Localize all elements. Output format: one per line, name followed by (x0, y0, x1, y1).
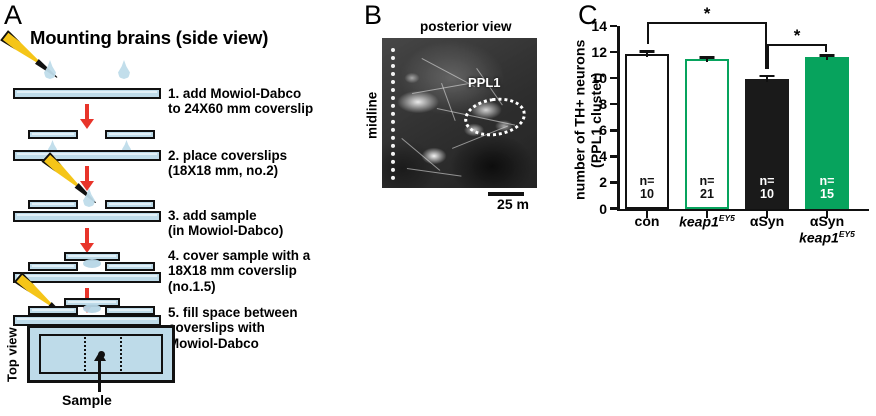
error-bar-cap (760, 75, 775, 78)
bar-con: n= 10 (625, 54, 669, 208)
x-category-label-2: αSyn (737, 214, 797, 230)
error-bar (706, 56, 709, 61)
bar-chart: 02468101214 n= 10n= 21n= 10n= 15 ** (617, 26, 857, 211)
ppl1-cluster-label: PPL1 (468, 75, 501, 90)
bar--syn: n= 10 (745, 79, 789, 208)
error-bar (766, 75, 769, 83)
coverslip-18x18-left-step3 (28, 200, 78, 209)
panel-b-letter: B (364, 2, 382, 29)
top-view-label: Top view (4, 326, 20, 384)
bar--syn-keap1ey5: n= 15 (805, 57, 849, 209)
error-bar (826, 54, 829, 59)
chart-y-tick (610, 77, 617, 80)
bar-keap1ey5: n= 21 (685, 59, 729, 209)
chart-y-tick (610, 181, 617, 184)
step-3-text: 3. add sample (in Mowiol-Dabco) (168, 208, 283, 239)
panel-a: A Mounting brains (side view) (0, 0, 360, 416)
top-view-dash-top (72, 334, 130, 336)
error-bar-cap (820, 54, 835, 57)
step-1-text: 1. add Mowiol-Dabco to 24X60 mm coversli… (168, 86, 313, 117)
error-bar-cap (640, 50, 655, 53)
panel-b-caption: posterior view (420, 19, 512, 34)
down-arrow-1 (85, 104, 89, 120)
bar-n-label: n= 10 (627, 175, 667, 201)
down-arrow-3 (85, 228, 89, 244)
chart-x-axis (617, 209, 869, 212)
top-view-dash-right (120, 334, 122, 374)
bar-n-label: n= 21 (687, 175, 727, 201)
x-category-label-3: αSynkeap1EY5 (797, 214, 857, 246)
microscopy-image: PPL1 (382, 38, 537, 188)
midline-label: midline (364, 70, 380, 160)
error-bar-cap (700, 56, 715, 59)
bracket-left-leg (767, 44, 769, 69)
coverslip-18x18-left-step5 (28, 306, 78, 315)
bracket-right-leg (825, 44, 827, 52)
panel-a-letter: A (4, 2, 22, 29)
panel-a-title: Mounting brains (side view) (30, 27, 268, 49)
x-category-label-0: con (617, 214, 677, 230)
chart-y-tick-label: 12 (591, 44, 607, 60)
chart-y-tick-label: 0 (599, 201, 607, 217)
step-5-text: 5. fill space between coverslips with Mo… (168, 305, 298, 351)
coverslip-18x18-right-step2 (105, 130, 155, 139)
chart-y-tick-label: 4 (599, 148, 607, 164)
chart-y-tick (610, 155, 617, 158)
chart-y-tick-label: 2 (599, 174, 607, 190)
step-2-text: 2. place coverslips (18X18 mm, no.2) (168, 148, 287, 179)
chart-y-tick (610, 25, 617, 28)
figure-root: A Mounting brains (side view) (0, 0, 876, 416)
significance-star: * (704, 5, 711, 22)
chart-y-tick (610, 103, 617, 106)
coverslip-18x18-left-step2 (28, 130, 78, 139)
chart-y-tick-label: 8 (599, 96, 607, 112)
chart-y-tick-label: 14 (591, 18, 607, 34)
sample-droplet-4 (83, 259, 101, 268)
significance-star: * (794, 27, 801, 44)
down-arrow-2 (85, 166, 89, 182)
midline-dotted-line (391, 48, 395, 180)
bracket-left-leg (647, 22, 649, 44)
chart-y-tick (610, 51, 617, 54)
coverslip-24x60-step3 (13, 211, 161, 222)
coverslip-18x18-right-step3 (105, 200, 155, 209)
sample-pointer-arrow (98, 360, 101, 392)
error-bar (646, 50, 649, 57)
chart-y-axis (617, 26, 620, 211)
coverslip-18x18-right-step5 (105, 306, 155, 315)
step-4-text: 4. cover sample with a 18X18 mm coversli… (168, 248, 310, 294)
chart-y-tick-label: 6 (599, 122, 607, 138)
x-category-label-1: keap1EY5 (677, 214, 737, 230)
bar-n-label: n= 15 (807, 175, 847, 201)
scale-bar-label: 25 m (478, 196, 548, 212)
top-view-dash-bottom (72, 372, 130, 374)
chart-y-tick (610, 207, 617, 210)
coverslip-24x60-step1 (13, 88, 161, 99)
chart-y-tick-label: 10 (591, 70, 607, 86)
chart-y-tick (610, 129, 617, 132)
coverslip-18x18-right-step4 (105, 262, 155, 271)
top-view-dash-left (84, 334, 86, 374)
bar-n-label: n= 10 (747, 175, 787, 201)
droplet-1b (118, 60, 130, 79)
sample-label: Sample (62, 392, 112, 408)
coverslip-24x60-step4 (13, 272, 161, 283)
sample-droplet-5 (83, 304, 101, 313)
coverslip-18x18-left-step4 (28, 262, 78, 271)
coverslip-24x60-step2 (13, 150, 161, 161)
